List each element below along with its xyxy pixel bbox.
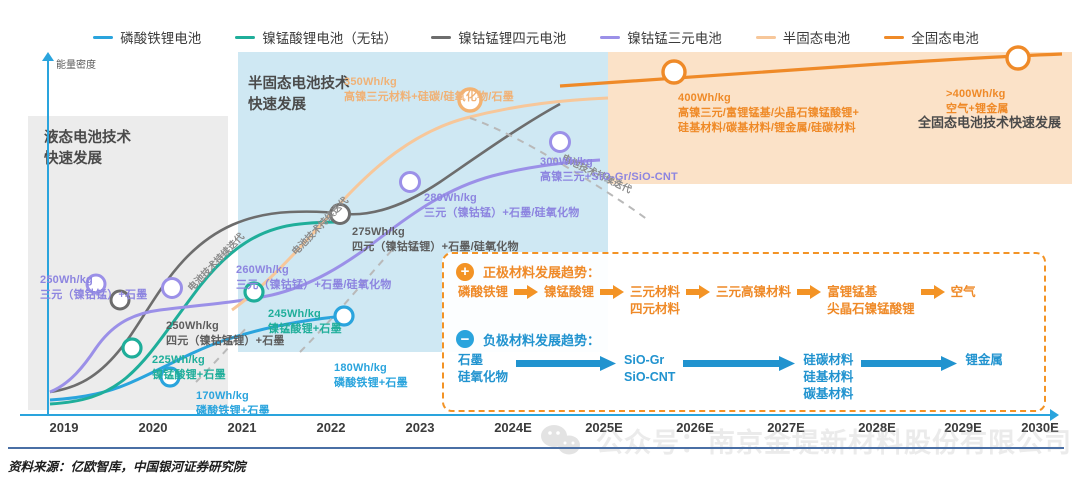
material-trend-infobox: + 正极材料发展趋势： 磷酸铁锂 镍锰酸锂 三元材料 四元材料 三元高镍材料 富… <box>442 252 1046 412</box>
label-180: 180Wh/kg磷酸铁锂+石墨 <box>334 346 408 391</box>
legend-label-lnmo: 镍锰酸锂电池（无钴） <box>262 27 397 47</box>
xtick-2030E: 2030E <box>1021 420 1059 435</box>
legend-label-ncm: 镍钴锰三元电池 <box>627 27 722 47</box>
anode-chain: 石墨 硅氧化物 SiO-Gr SiO-CNT 硅碳材料 硅基材料 碳基材料 锂金… <box>456 352 1032 403</box>
chart-root: 磷酸铁锂电池 镍锰酸锂电池（无钴） 镍钴锰锂四元电池 镍钴锰三元电池 半固态电池… <box>0 0 1072 484</box>
xtick-2026E: 2026E <box>676 420 714 435</box>
point-260[interactable] <box>163 279 182 298</box>
label-400: 400Wh/kg高镍三元/富锂锰基/尖晶石镍锰酸锂+ 硅基材料/碳基材料/锂金属… <box>678 76 859 135</box>
point-225[interactable] <box>123 339 141 357</box>
arrow-right-icon <box>861 356 957 371</box>
legend-label-quaternary: 镍钴锰锂四元电池 <box>458 27 566 47</box>
point-400plus[interactable] <box>1007 47 1029 69</box>
arrow-right-icon <box>921 285 945 299</box>
cathode-node-3: 三元高镍材料 <box>716 284 791 301</box>
xtick-2024E: 2024E <box>494 420 532 435</box>
label-400plus: >400Wh/kg空气+锂金属 <box>946 72 1009 117</box>
cathode-node-0: 磷酸铁锂 <box>458 284 508 301</box>
cathode-chain: 磷酸铁锂 镍锰酸锂 三元材料 四元材料 三元高镍材料 富锂锰基 尖晶石镍锰酸锂 … <box>456 284 1032 318</box>
footer-divider <box>8 447 1064 449</box>
anode-header: − 负极材料发展趋势： <box>456 330 1032 349</box>
plot-area: 液态电池技术 快速发展 半固态电池技术 快速发展 全固态电池技术快速发展 能量密… <box>0 52 1072 424</box>
arrow-right-icon <box>683 356 795 371</box>
legend-item-allsolid[interactable]: 全固态电池 <box>884 27 979 47</box>
cathode-node-2: 三元材料 四元材料 <box>630 284 680 318</box>
legend-swatch-allsolid <box>884 36 904 39</box>
label-170: 170Wh/kg磷酸铁锂+石墨 <box>196 374 270 419</box>
point-280[interactable] <box>401 173 420 192</box>
legend-swatch-lnmo <box>235 36 255 39</box>
xtick-2019: 2019 <box>50 420 79 435</box>
arrow-right-icon <box>600 285 624 299</box>
legend-label-semisolid: 半固态电池 <box>783 27 851 47</box>
xtick-2022: 2022 <box>317 420 346 435</box>
legend-item-quaternary[interactable]: 镍钴锰锂四元电池 <box>431 27 566 47</box>
legend-swatch-ncm <box>600 36 620 39</box>
anode-node-3: 锂金属 <box>965 352 1003 369</box>
anode-node-2: 硅碳材料 硅基材料 碳基材料 <box>803 352 853 403</box>
label-260: 260Wh/kg三元（镍钴锰）+石墨/硅氧化物 <box>236 248 391 293</box>
arrow-right-icon <box>686 285 710 299</box>
legend-swatch-lfp <box>93 36 113 39</box>
label-250-ternary: 250Wh/kg三元（镍钴锰）+石墨 <box>40 258 147 303</box>
label-350: 350Wh/kg高镍三元材料+硅碳/硅氧化物/石墨 <box>344 60 514 105</box>
xtick-2027E: 2027E <box>767 420 805 435</box>
xtick-2029E: 2029E <box>944 420 982 435</box>
arrow-right-icon <box>516 356 616 371</box>
cathode-node-1: 镍锰酸锂 <box>544 284 594 301</box>
anode-title: 负极材料发展趋势： <box>483 330 600 349</box>
legend-item-ncm[interactable]: 镍钴锰三元电池 <box>600 27 722 47</box>
label-245: 245Wh/kg镍锰酸锂+石墨 <box>268 292 342 337</box>
source-note: 资料来源：亿欧智库，中国银河证券研究院 <box>8 456 246 475</box>
xtick-2023: 2023 <box>406 420 435 435</box>
arrow-right-icon <box>797 285 821 299</box>
chart-legend: 磷酸铁锂电池 镍锰酸锂电池（无钴） 镍钴锰锂四元电池 镍钴锰三元电池 半固态电池… <box>0 26 1072 48</box>
xtick-2025E: 2025E <box>585 420 623 435</box>
legend-item-semisolid[interactable]: 半固态电池 <box>756 27 851 47</box>
legend-label-lfp: 磷酸铁锂电池 <box>120 27 201 47</box>
legend-swatch-quaternary <box>431 36 451 39</box>
cathode-header: + 正极材料发展趋势： <box>456 262 1032 281</box>
minus-icon: − <box>456 330 474 348</box>
xtick-2028E: 2028E <box>858 420 896 435</box>
plus-icon: + <box>456 263 474 281</box>
cathode-node-4: 富锂锰基 尖晶石镍锰酸锂 <box>827 284 915 318</box>
anode-node-0: 石墨 硅氧化物 <box>458 352 508 386</box>
legend-item-lnmo[interactable]: 镍锰酸锂电池（无钴） <box>235 27 397 47</box>
xtick-2020: 2020 <box>139 420 168 435</box>
xtick-2021: 2021 <box>228 420 257 435</box>
legend-label-allsolid: 全固态电池 <box>911 27 979 47</box>
anode-node-1: SiO-Gr SiO-CNT <box>624 352 675 386</box>
cathode-node-5: 空气 <box>951 284 976 301</box>
arrow-right-icon <box>514 285 538 299</box>
legend-item-lfp[interactable]: 磷酸铁锂电池 <box>93 27 201 47</box>
x-axis-ticks: 2019 2020 2021 2022 2023 2024E 2025E 202… <box>0 420 1072 438</box>
legend-swatch-semisolid <box>756 36 776 39</box>
cathode-title: 正极材料发展趋势： <box>483 262 600 281</box>
